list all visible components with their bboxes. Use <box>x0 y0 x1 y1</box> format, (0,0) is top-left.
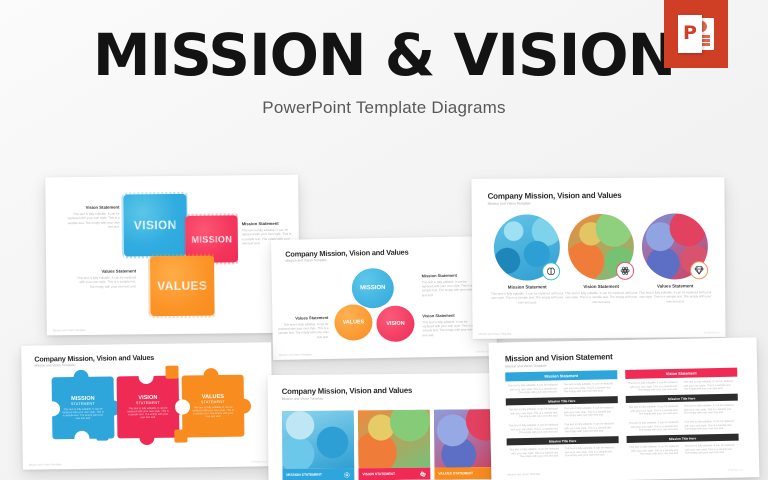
mission-section-header: Mission Title Here <box>506 396 618 405</box>
footer-text: Mission and Vision Template <box>507 473 540 477</box>
values-circle-label: VALUES <box>343 319 365 325</box>
section-label: Mission Title Here <box>669 436 696 441</box>
slide-footer: Mission and Vision Template slidefactory <box>53 327 294 333</box>
mission-circle-label: MISSION <box>360 285 385 291</box>
footer-text: Mission and Vision Template <box>479 333 512 336</box>
mission-puzzle-sub: STATEMENT <box>71 402 95 406</box>
vision-section-header: Mission Title Here <box>626 394 738 403</box>
table-cell: This text is fully editable. It can be r… <box>507 383 557 395</box>
slide2-values-body: This text is fully editable. It can be r… <box>276 321 328 339</box>
slide-footer: Mission and Vision Template slidefactory <box>279 350 491 357</box>
diamond-icon <box>690 261 708 279</box>
vision-section-header: Mission Title Here <box>627 434 739 443</box>
vision-circle: VISION <box>376 305 415 342</box>
footer-text: Mission and Vision Template <box>279 353 312 357</box>
table-cell: This text is fully editable. It can be r… <box>684 404 736 416</box>
mission-texture-card: MISSION STATEMENT <box>282 410 355 480</box>
footer-logo: slidefactory <box>704 331 720 334</box>
slide3-mission-heading: Mission Statement <box>490 284 564 290</box>
table-cell: This text is fully editable. It can be r… <box>629 445 679 457</box>
footer-text: Mission and Vision Template <box>29 463 62 466</box>
accent-puzzle-piece <box>96 429 108 441</box>
values-puzzle-body: This text is fully editable. It can be r… <box>192 406 234 419</box>
slide3-subtitle: Mission and Vision Template <box>488 201 531 205</box>
table-cell: This text is fully editable. It can be r… <box>683 380 735 392</box>
hero-header: MISSION & VISION PowerPoint Template Dia… <box>0 0 768 118</box>
table-cell: This text is fully editable. It can be r… <box>564 422 616 434</box>
vision-puzzle-piece: VISION STATEMENT This text is fully edit… <box>117 376 180 439</box>
powerpoint-icon: P <box>664 0 728 68</box>
page-title: MISSION & VISION <box>0 0 768 86</box>
values-square-label: VALUES <box>150 256 215 317</box>
table-cell: This text is fully editable. It can be r… <box>508 423 558 435</box>
slide6-title: Mission and Vision Statement <box>505 352 613 363</box>
footer-text: Mission and Vision Template <box>53 329 86 332</box>
table-cell: This text is fully editable. It can be r… <box>684 420 736 432</box>
slide-watercolor-squares[interactable]: VISION MISSION VALUES Vision Statement T… <box>45 175 300 336</box>
section-label: Mission Title Here <box>668 396 695 401</box>
vision-statement-heading: Vision Statement <box>63 205 119 211</box>
vision-square: VISION <box>123 194 187 257</box>
slide3-vision-heading: Vision Statement <box>564 284 638 290</box>
values-statement-body: This text is fully editable. It can be r… <box>76 275 136 289</box>
values-card-label: VALUES STATEMENT <box>438 471 473 475</box>
accent-puzzle-piece <box>165 366 178 379</box>
slide4-title: Company Mission, Vision and Values <box>34 353 154 364</box>
mission-column-header: Mission Statement <box>505 370 617 381</box>
footer-logo: slidefactory <box>728 469 744 472</box>
section-label: Mission Title Here <box>549 439 576 444</box>
table-cell: This text is fully editable. It can be r… <box>628 421 678 433</box>
slide-footer: Mission and Vision Template slidefactory <box>479 331 720 336</box>
slide2-mission-heading: Mission Statement <box>422 272 476 278</box>
accent-puzzle-piece <box>174 429 187 442</box>
mission-column-label: Mission Statement <box>544 373 578 378</box>
slide-statement-table[interactable]: Mission and Vision Statement Mission and… <box>489 337 760 480</box>
mission-circle: MISSION <box>351 268 394 309</box>
values-circle: VALUES <box>334 304 373 341</box>
vision-puzzle-caption: VISION STATEMENT This text is fully edit… <box>117 376 180 439</box>
slide-footer: Mission and Vision Template slidefactory <box>507 469 743 477</box>
slide3-vision-body: This text is fully editable. It can be r… <box>564 291 638 305</box>
values-puzzle-piece: VALUES STATEMENT This text is fully edit… <box>182 375 245 438</box>
poster-canvas: MISSION & VISION PowerPoint Template Dia… <box>0 0 768 480</box>
slide2-mission-body: This text is fully editable. It can be r… <box>422 279 476 297</box>
vision-card-label: VISION STATEMENT <box>362 472 395 476</box>
slide2-title: Company Mission, Vision and Values <box>285 248 408 259</box>
table-cell: This text is fully editable. It can be r… <box>627 381 677 393</box>
vision-circle-label: VISION <box>386 321 404 327</box>
vision-puzzle-sub: STATEMENT <box>136 401 160 405</box>
slide3-mission-body: This text is fully editable. It can be r… <box>490 291 564 305</box>
vision-column-header: Vision Statement <box>625 368 737 379</box>
vision-square-label: VISION <box>123 194 187 257</box>
slide3-values-body: This text is fully editable. It can be r… <box>638 290 712 304</box>
mission-statement-heading: Mission Statement <box>242 221 294 227</box>
table-cell: This text is fully editable. It can be r… <box>509 447 559 459</box>
gear-icon <box>343 471 350 478</box>
slide2-vision-body: This text is fully editable. It can be r… <box>422 319 476 337</box>
slide2-vision-heading: Vision Statement <box>422 312 476 318</box>
vision-texture-card: VISION STATEMENT <box>358 410 431 480</box>
footer-logo: slidefactory <box>251 460 267 463</box>
slide5-subtitle: Mission and Vision Template <box>282 397 324 401</box>
slide5-title: Company Mission, Vision and Values <box>282 386 412 396</box>
slide2-subtitle: Mission and Vision Template <box>285 258 327 263</box>
slide3-title: Company Mission, Vision and Values <box>488 191 622 201</box>
vision-statement-body: This text is fully editable. It can be r… <box>64 212 120 231</box>
powerpoint-fold: P <box>678 15 702 53</box>
values-puzzle-sub: STATEMENT <box>201 400 225 404</box>
atom-icon <box>419 470 426 477</box>
slide4-subtitle: Mission and Vision Template <box>34 363 74 368</box>
slide6-subtitle: Mission and Vision Template <box>505 364 547 369</box>
table-cell: This text is fully editable. It can be r… <box>628 405 678 417</box>
slide2-values-heading: Values Statement <box>276 315 328 321</box>
mission-card-texture <box>282 410 355 469</box>
page-subtitle: PowerPoint Template Diagrams <box>0 98 768 118</box>
powerpoint-icon-glyph: P <box>678 18 714 50</box>
mission-section-header: Mission Title Here <box>507 436 619 445</box>
table-cell: This text is fully editable. It can be r… <box>685 444 737 456</box>
brain-icon <box>542 262 560 280</box>
mission-puzzle-body: This text is fully editable. It can be r… <box>62 408 104 421</box>
atom-icon <box>616 262 634 280</box>
slide-texture-cards[interactable]: Company Mission, Vision and Values Missi… <box>268 373 517 480</box>
mission-card-bar: MISSION STATEMENT <box>282 468 354 480</box>
powerpoint-letter: P <box>683 22 697 44</box>
table-cell: This text is fully editable. It can be r… <box>563 382 615 394</box>
table-cell: This text is fully editable. It can be r… <box>564 406 616 418</box>
mission-card-label: MISSION STATEMENT <box>286 473 322 477</box>
table-cell: This text is fully editable. It can be r… <box>508 407 558 419</box>
slide-footer: Mission and Vision Template slidefactory <box>29 460 267 466</box>
slide-puzzle-pieces[interactable]: Company Mission, Vision and Values Missi… <box>21 342 273 469</box>
values-puzzle-caption: VALUES STATEMENT This text is fully edit… <box>182 375 245 438</box>
values-statement-heading: Values Statement <box>76 268 136 274</box>
section-label: Mission Title Here <box>548 399 575 404</box>
slide-watercolor-globes[interactable]: Company Mission, Vision and Values Missi… <box>471 177 725 339</box>
vision-column-label: Vision Statement <box>666 371 697 376</box>
slide-overlapping-circles[interactable]: Company Mission, Vision and Values Missi… <box>271 236 497 360</box>
values-square: VALUES <box>150 256 215 317</box>
table-cell: This text is fully editable. It can be r… <box>565 446 617 458</box>
vision-puzzle-body: This text is fully editable. It can be r… <box>127 407 169 420</box>
vision-card-bar: VISION STATEMENT <box>358 468 430 480</box>
slide3-values-heading: Values Statement <box>638 283 712 289</box>
vision-card-texture <box>358 410 431 469</box>
